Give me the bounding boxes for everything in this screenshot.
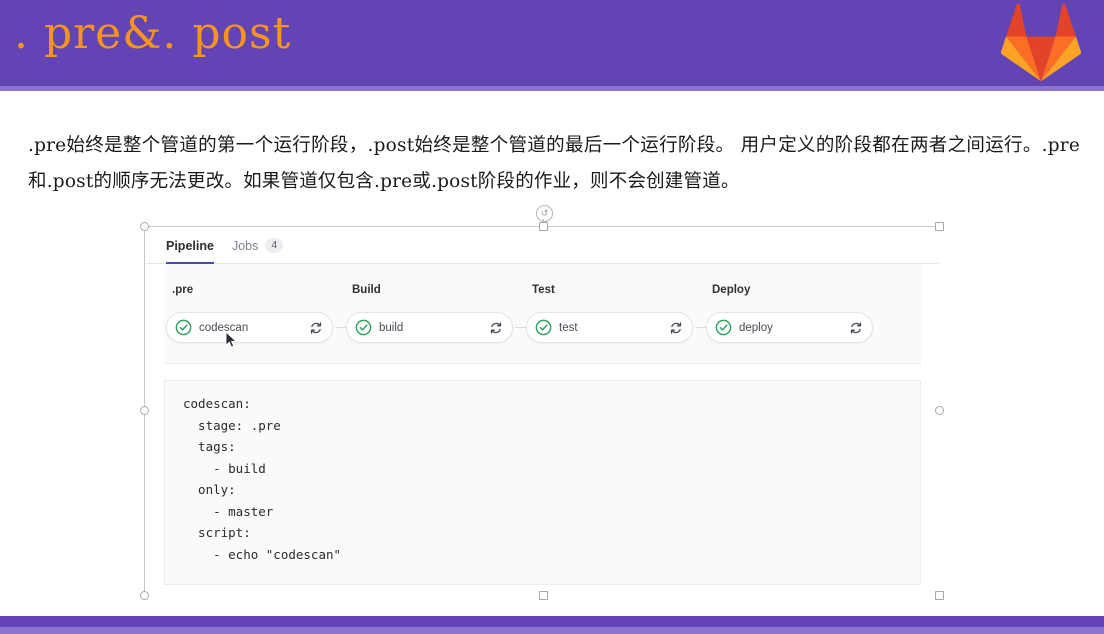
tab-pipeline[interactable]: Pipeline xyxy=(166,228,214,264)
ci-yaml-code: codescan: stage: .pre tags: - build only… xyxy=(165,381,920,565)
job-pill-test[interactable]: test xyxy=(526,312,693,343)
stage-column-deploy: Deploy deploy xyxy=(704,264,884,363)
selection-handle-middle-left[interactable] xyxy=(140,406,149,415)
job-pill-deploy[interactable]: deploy xyxy=(706,312,873,343)
job-pill-codescan[interactable]: codescan xyxy=(166,312,333,343)
job-name-build: build xyxy=(379,322,486,334)
job-pill-build[interactable]: build xyxy=(346,312,513,343)
slide-header-underline xyxy=(0,86,1104,91)
gitlab-pipeline-screenshot: Pipeline Jobs 4 .pre xyxy=(146,228,939,596)
slide-footer-accent-bar xyxy=(0,627,1104,634)
selection-handle-top-left[interactable] xyxy=(140,222,149,231)
gitlab-logo-icon xyxy=(1000,4,1082,82)
selection-handle-top-center[interactable] xyxy=(539,222,548,231)
job-name-test: test xyxy=(559,322,666,334)
stage-label-build: Build xyxy=(352,284,381,296)
selection-handle-bottom-right[interactable] xyxy=(935,591,944,600)
retry-icon[interactable] xyxy=(846,318,866,338)
tab-pipeline-label: Pipeline xyxy=(166,239,214,253)
stage-column-pre: .pre codescan xyxy=(164,264,344,363)
stage-label-pre: .pre xyxy=(172,284,193,296)
selection-handle-middle-right[interactable] xyxy=(935,406,944,415)
stage-column-test: Test test xyxy=(524,264,704,363)
status-success-icon xyxy=(175,319,192,336)
body-paragraph: .pre始终是整个管道的第一个运行阶段，.post始终是整个管道的最后一个运行阶… xyxy=(28,128,1080,200)
page-title: . pre&. post xyxy=(14,8,291,59)
status-success-icon xyxy=(715,319,732,336)
tab-jobs[interactable]: Jobs 4 xyxy=(232,228,283,264)
status-success-icon xyxy=(535,319,552,336)
selection-handle-bottom-center[interactable] xyxy=(539,591,548,600)
selected-image-frame[interactable]: Pipeline Jobs 4 .pre xyxy=(144,226,939,596)
stage-label-deploy: Deploy xyxy=(712,284,750,296)
ci-yaml-code-panel: codescan: stage: .pre tags: - build only… xyxy=(164,380,921,585)
stage-column-build: Build build xyxy=(344,264,524,363)
status-success-icon xyxy=(355,319,372,336)
selection-handle-top-right[interactable] xyxy=(935,222,944,231)
jobs-count-badge: 4 xyxy=(265,238,283,253)
job-name-codescan: codescan xyxy=(199,322,306,334)
retry-icon[interactable] xyxy=(666,318,686,338)
tab-jobs-label: Jobs xyxy=(232,239,258,253)
rotation-handle[interactable]: ↺ xyxy=(536,205,553,222)
selection-handle-bottom-left[interactable] xyxy=(140,591,149,600)
pipeline-tabs-bar: Pipeline Jobs 4 xyxy=(146,228,939,264)
pipeline-graph: .pre codescan xyxy=(164,264,921,364)
slide-footer-bar xyxy=(0,616,1104,627)
stage-label-test: Test xyxy=(532,284,555,296)
retry-icon[interactable] xyxy=(486,318,506,338)
job-name-deploy: deploy xyxy=(739,322,846,334)
retry-icon[interactable] xyxy=(306,318,326,338)
slide-page: { "slide": { "title": ". pre&. post", "t… xyxy=(0,0,1104,634)
